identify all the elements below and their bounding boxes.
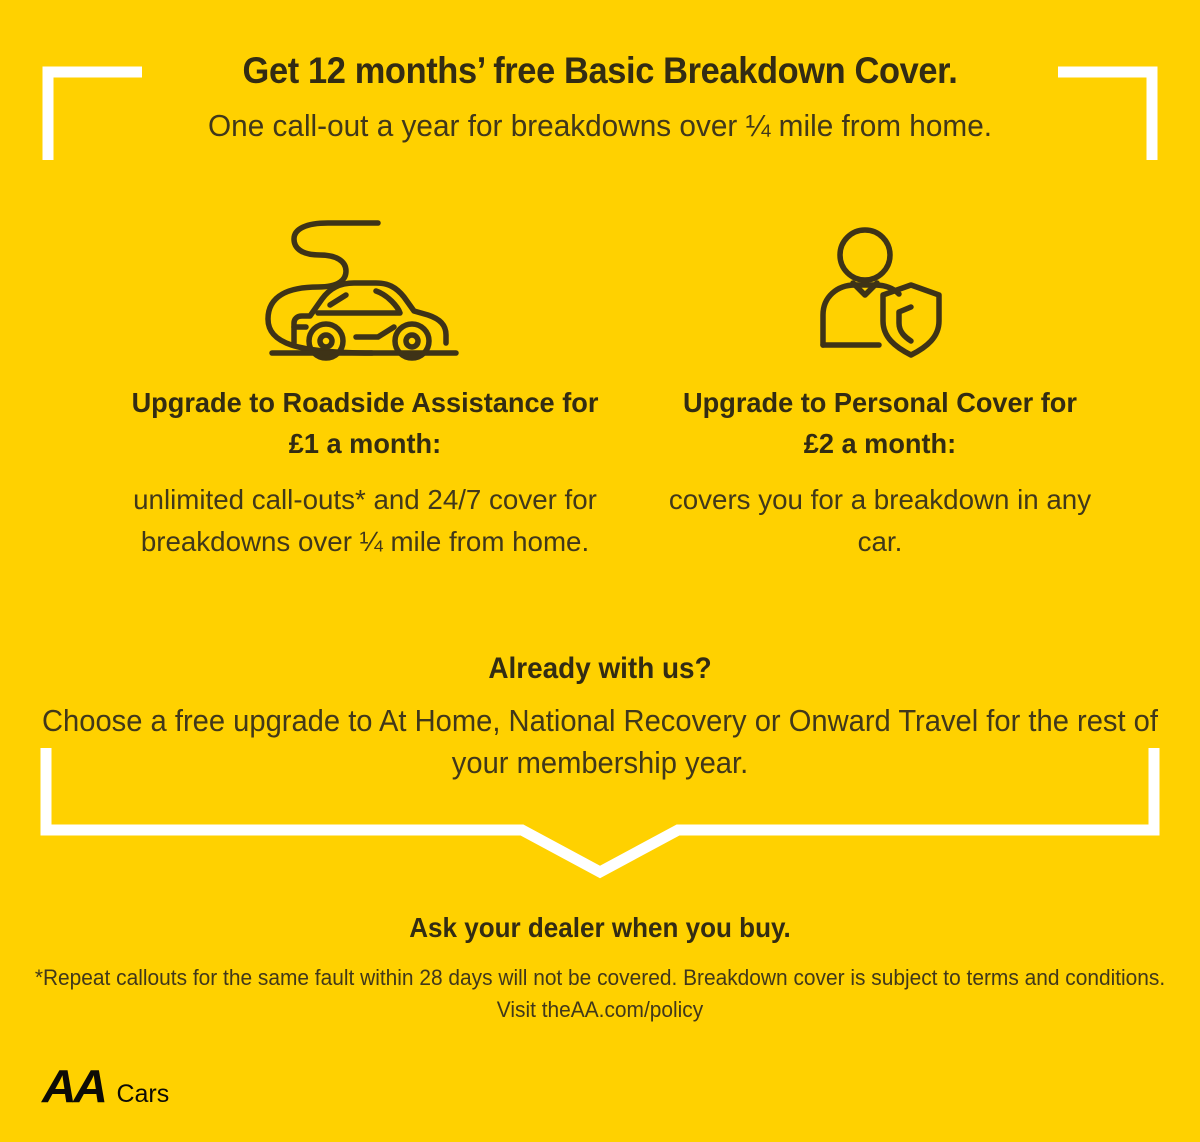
footer: Ask your dealer when you buy. *Repeat ca… — [0, 910, 1200, 1026]
aa-logo-wordmark: Cars — [116, 1082, 169, 1107]
feature-title-personal: Upgrade to Personal Cover for £2 a month… — [671, 382, 1088, 465]
aa-logo-mark: AA — [42, 1063, 105, 1109]
feature-body-personal: covers you for a breakdown in any car. — [667, 479, 1093, 564]
page-title: Get 12 months’ free Basic Breakdown Cove… — [42, 48, 1158, 93]
feature-column-personal: Upgrade to Personal Cover for £2 a month… — [645, 210, 1115, 564]
feature-column-roadside: Upgrade to Roadside Assistance for £1 a … — [85, 210, 645, 564]
aa-cars-logo: AA Cars — [42, 1063, 169, 1109]
page-subtitle: One call-out a year for breakdowns over … — [24, 107, 1176, 146]
already-with-us-section: Already with us? Choose a free upgrade t… — [0, 650, 1200, 785]
already-with-us-body: Choose a free upgrade to At Home, Nation… — [36, 700, 1164, 786]
feature-body-roadside: unlimited call-outs* and 24/7 cover for … — [118, 479, 613, 564]
person-with-shield-icon — [805, 210, 955, 370]
feature-columns: Upgrade to Roadside Assistance for £1 a … — [0, 210, 1200, 564]
header: Get 12 months’ free Basic Breakdown Cove… — [0, 48, 1200, 146]
already-with-us-title: Already with us? — [42, 650, 1158, 688]
promo-canvas: Get 12 months’ free Basic Breakdown Cove… — [0, 0, 1200, 1142]
car-on-winding-road-icon — [260, 210, 470, 370]
footer-call-to-action: Ask your dealer when you buy. — [42, 910, 1158, 946]
footer-disclaimer: *Repeat callouts for the same fault with… — [30, 962, 1170, 1026]
feature-title-roadside: Upgrade to Roadside Assistance for £1 a … — [123, 382, 608, 465]
